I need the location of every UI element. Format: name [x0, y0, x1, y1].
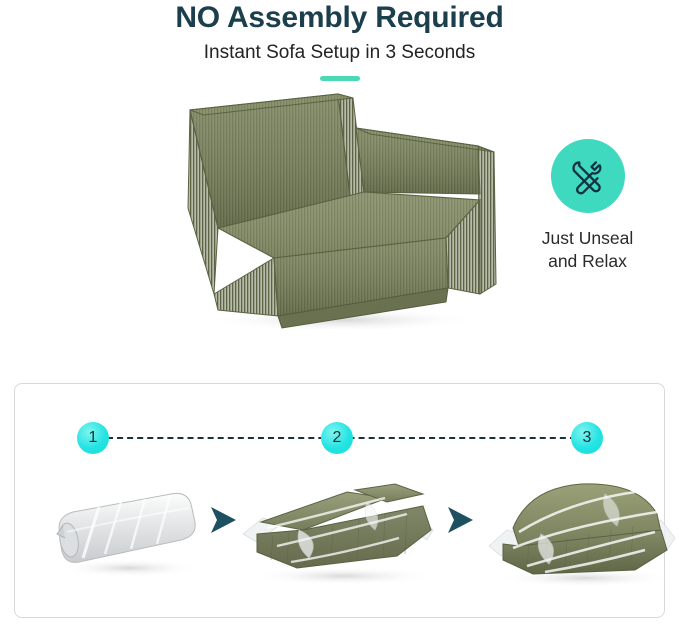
step-image-3	[485, 472, 679, 592]
feature-label: Just Unseal and Relax	[505, 227, 670, 272]
step-badge-1: 1	[77, 422, 109, 454]
step-badge-2: 2	[321, 422, 353, 454]
step-arrow-1	[203, 500, 243, 540]
chevron-right-icon	[440, 500, 480, 540]
step-arrow-2	[440, 500, 480, 540]
steps-track: 1 2 3	[15, 422, 664, 454]
header: NO Assembly Required Instant Sofa Setup …	[0, 0, 679, 81]
hero-section: Just Unseal and Relax	[0, 81, 679, 366]
step-image-1	[39, 472, 214, 592]
feature-callout: Just Unseal and Relax	[505, 139, 670, 272]
tools-wrench-screwdriver-icon	[567, 155, 609, 197]
step-image-2	[237, 472, 449, 592]
page-subtitle: Instant Sofa Setup in 3 Seconds	[0, 43, 679, 64]
hero-product-image	[178, 88, 503, 333]
chevron-right-icon	[203, 500, 243, 540]
step-badge-3: 3	[571, 422, 603, 454]
tools-badge	[551, 139, 625, 213]
steps-panel: 1 2 3	[14, 383, 665, 618]
page-title: NO Assembly Required	[0, 2, 679, 34]
